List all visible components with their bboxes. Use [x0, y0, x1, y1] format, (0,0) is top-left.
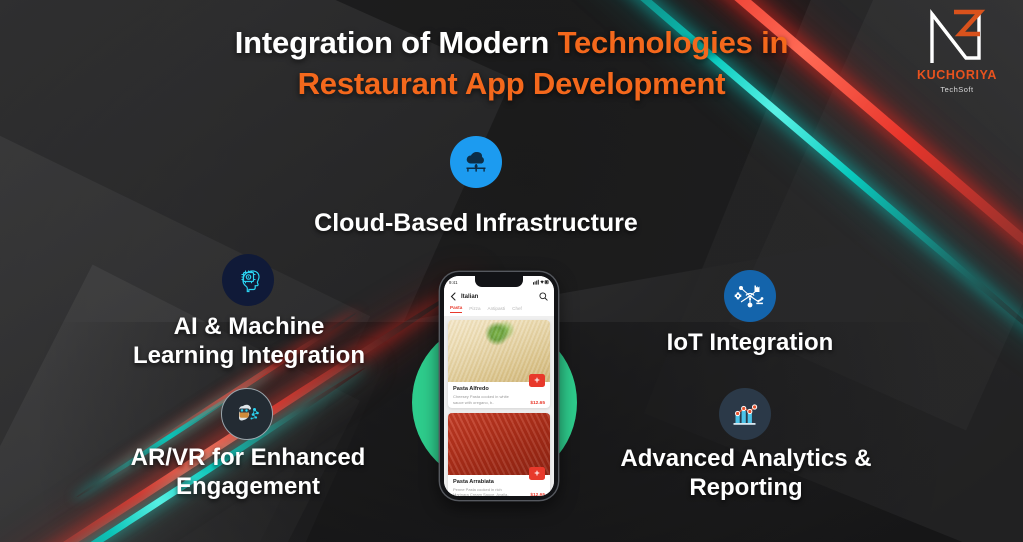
menu-item-body: + Pasta Arrabiata Penne Pasta cooked in …: [448, 475, 550, 497]
feature-label-ai: AI & Machine Learning Integration: [60, 312, 438, 371]
menu-item-body: + Pasta Alfredo Cheesey Pasta cooked in …: [448, 382, 550, 408]
feature-label-cloud: Cloud-Based Infrastructure: [253, 208, 699, 239]
iot-network-icon: [732, 278, 768, 314]
page-title: Integration of Modern Technologies in Re…: [0, 22, 1023, 104]
add-to-cart-button[interactable]: +: [529, 467, 545, 480]
menu-item-price: $12.65: [530, 401, 545, 406]
feature-badge-arvr[interactable]: [221, 388, 273, 440]
vr-headset-icon: [230, 397, 264, 431]
feature-badge-ai[interactable]: [222, 254, 274, 306]
back-chevron-left-icon[interactable]: [450, 288, 456, 306]
feature-label-ai-line2: Learning Integration: [133, 342, 365, 369]
add-to-cart-button[interactable]: +: [529, 374, 545, 387]
pasta-alfredo-photo: [448, 320, 550, 382]
feature-label-arvr-line2: Engagement: [176, 473, 320, 500]
pasta-arrabiata-photo: [448, 413, 550, 475]
cloud-icon: [460, 146, 492, 178]
feature-badge-iot[interactable]: [724, 270, 776, 322]
statusbar-time: 9:41: [449, 280, 458, 285]
feature-label-analytics-line2: Reporting: [689, 474, 802, 501]
feature-badge-cloud[interactable]: [450, 136, 502, 188]
bar-chart-trend-icon: [728, 397, 762, 431]
category-tabs: Pasta Pizza Antipasti Chef: [444, 305, 554, 316]
statusbar-indicators-icon: [533, 279, 549, 286]
menu-item-description: Cheesey Pasta cooked in white sauce with…: [453, 394, 517, 406]
tab-chef[interactable]: Chef: [512, 306, 522, 313]
feature-label-arvr: AR/VR for Enhanced Engagement: [58, 443, 438, 502]
feature-label-ai-line1: AI & Machine: [174, 313, 325, 340]
feature-label-arvr-line1: AR/VR for Enhanced: [131, 444, 366, 471]
feature-label-analytics-line1: Advanced Analytics &: [620, 445, 871, 472]
menu-item-price: $12.65: [530, 493, 545, 496]
tab-pasta[interactable]: Pasta: [450, 305, 462, 313]
menu-item-card[interactable]: + Pasta Alfredo Cheesey Pasta cooked in …: [448, 320, 550, 408]
phone-screen: 9:41 Italian: [444, 276, 554, 496]
menu-item-card[interactable]: + Pasta Arrabiata Penne Pasta cooked in …: [448, 413, 550, 497]
menu-item-description: Penne Pasta cooked in rich Marinara Crea…: [453, 487, 517, 497]
phone-notch: [475, 276, 523, 287]
title-line2-accent: Restaurant App Development: [298, 66, 726, 101]
search-icon[interactable]: [539, 288, 548, 306]
ai-brain-chip-icon: [232, 264, 264, 296]
feature-label-analytics: Advanced Analytics & Reporting: [576, 444, 916, 503]
phone-mockup: 9:41 Italian: [440, 272, 558, 500]
feature-label-iot: IoT Integration: [590, 328, 910, 357]
tab-antipasti[interactable]: Antipasti: [488, 306, 506, 313]
feature-badge-analytics[interactable]: [719, 388, 771, 440]
menu-list: + Pasta Alfredo Cheesey Pasta cooked in …: [444, 316, 554, 496]
title-line1-accent: Technologies in: [558, 25, 789, 60]
app-header-title: Italian: [461, 294, 534, 300]
app-header: Italian: [444, 288, 554, 305]
tab-pizza[interactable]: Pizza: [469, 306, 480, 313]
infographic-canvas: KUCHORIYA TechSoft Integration of Modern…: [0, 0, 1023, 542]
title-line1-white: Integration of Modern: [235, 25, 558, 60]
